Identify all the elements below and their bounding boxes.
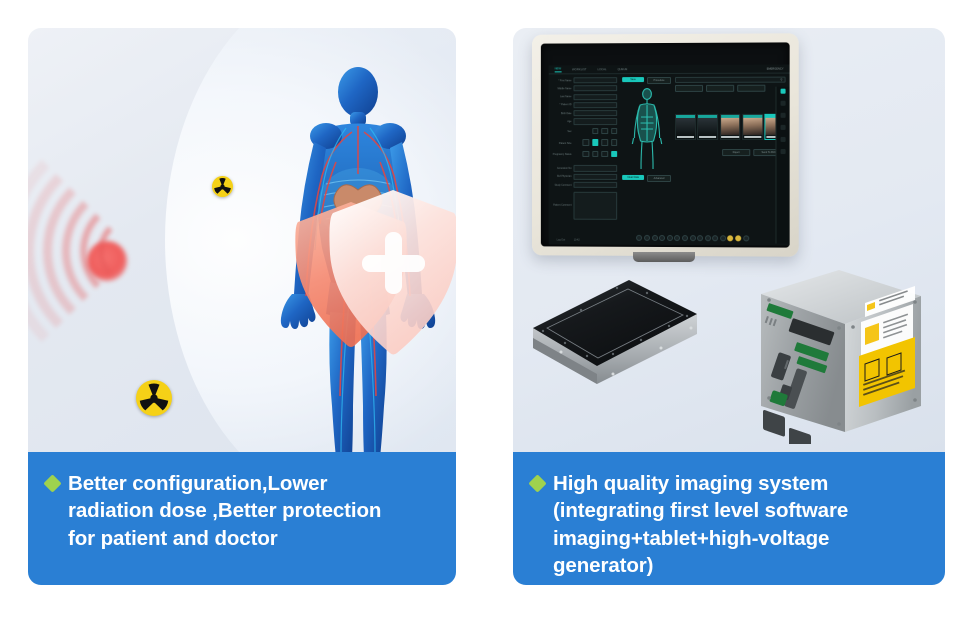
- field-pregnancy-status[interactable]: Pregnancy Status: [552, 150, 617, 159]
- image-toolbar: [618, 235, 767, 242]
- ref-physician-input[interactable]: [573, 174, 617, 180]
- study-action-row: Reject Send To PACS: [675, 149, 786, 156]
- caption-bar-left: Better configuration,Lower radiation dos…: [28, 452, 456, 585]
- field-label: Middle Name: [552, 87, 572, 90]
- search-input[interactable]: ⚲: [675, 77, 786, 83]
- field-label: Birth Date: [552, 112, 572, 115]
- field-accession-no[interactable]: Accession No: [552, 165, 617, 171]
- toolbar-icon[interactable]: [674, 235, 680, 241]
- field-label: Ref Physician: [552, 175, 572, 178]
- rail-icon-exit[interactable]: [781, 149, 786, 154]
- thumbnail-image: [676, 118, 695, 135]
- thumbnail-item[interactable]: [697, 114, 718, 140]
- emergency-button[interactable]: EMERGENCY: [767, 67, 784, 70]
- field-study-comment[interactable]: Study Comment: [552, 182, 617, 188]
- field-last-name[interactable]: Last Name: [552, 94, 617, 100]
- side-rail: [775, 87, 789, 244]
- procedure-button[interactable]: Procedure: [647, 77, 671, 84]
- pregnancy-options[interactable]: [573, 151, 617, 157]
- toolbar-icon[interactable]: [659, 235, 665, 241]
- toolbar-icon[interactable]: [652, 235, 658, 241]
- advanced-button[interactable]: Advanced: [647, 175, 671, 182]
- thumbnail-bar: [744, 136, 762, 138]
- pregnancy-option-icon-selected[interactable]: [611, 151, 617, 157]
- toolbar-icon[interactable]: [697, 235, 703, 241]
- field-patient-comment[interactable]: Patient Comment: [552, 190, 617, 220]
- body-diagram-icon[interactable]: [629, 87, 665, 171]
- protocol-chip-row: [675, 85, 786, 92]
- save-button[interactable]: Save: [622, 77, 644, 82]
- toolbar-icon-highlight[interactable]: [728, 235, 734, 241]
- thumbnail-item[interactable]: [720, 113, 741, 139]
- sex-option-icon[interactable]: [611, 128, 617, 134]
- study-panel: ⚲: [673, 74, 790, 246]
- pregnancy-option-icon[interactable]: [582, 151, 588, 157]
- diamond-bullet-icon: [43, 474, 61, 492]
- field-label: Patient Size: [552, 142, 572, 145]
- radiation-trefoil-icon: [212, 176, 233, 197]
- accession-no-input[interactable]: [573, 165, 617, 171]
- field-label: Patient Comment: [552, 203, 572, 206]
- size-option-icon[interactable]: [601, 139, 607, 145]
- status-log-out[interactable]: Log Out: [557, 239, 565, 242]
- thumbnail-bar: [721, 136, 739, 138]
- reject-button[interactable]: Reject: [722, 149, 750, 156]
- diamond-bullet-icon: [528, 474, 546, 492]
- first-name-input[interactable]: [573, 77, 617, 83]
- field-birth-date[interactable]: Birth Date: [552, 110, 617, 116]
- toolbar-icon[interactable]: [690, 235, 696, 241]
- monitor-stand: [633, 252, 695, 262]
- thumbnail-bar: [699, 136, 717, 138]
- field-first-name[interactable]: * First Name: [552, 77, 617, 83]
- pregnancy-option-icon[interactable]: [601, 151, 607, 157]
- size-option-icon[interactable]: [611, 139, 617, 145]
- sex-options[interactable]: [573, 128, 617, 135]
- field-age[interactable]: Age: [552, 118, 617, 124]
- patient-id-input[interactable]: [573, 102, 617, 108]
- pregnancy-option-icon[interactable]: [592, 151, 598, 157]
- toolbar-icon[interactable]: [667, 235, 673, 241]
- toolbar-icon[interactable]: [682, 235, 688, 241]
- field-sex[interactable]: Sex: [552, 127, 617, 137]
- rail-icon-acquire[interactable]: [781, 89, 786, 94]
- rail-icon-system[interactable]: [781, 137, 786, 142]
- radiation-protection-illustration: [28, 28, 456, 452]
- tab-queue[interactable]: QUEUE: [617, 67, 627, 71]
- protocol-chip[interactable]: [737, 85, 765, 92]
- toolbar-icon[interactable]: [712, 235, 718, 241]
- radiation-trefoil-icon: [136, 380, 172, 416]
- shield-plus-icon: [326, 188, 456, 358]
- rail-icon-tools[interactable]: [781, 113, 786, 118]
- toolbar-icon[interactable]: [644, 235, 650, 241]
- tab-worklist[interactable]: WORKLIST: [572, 67, 586, 71]
- flat-panel-detector: [521, 262, 711, 412]
- tab-new[interactable]: NEW: [555, 66, 561, 72]
- size-option-icon[interactable]: [582, 139, 588, 145]
- toolbar-icon[interactable]: [720, 235, 726, 241]
- primary-button-row: Save Procedure: [622, 77, 671, 84]
- clear-data-button[interactable]: Clear Data: [622, 175, 644, 180]
- thumbnail-strip: [675, 113, 786, 139]
- toolbar-icon[interactable]: [705, 235, 711, 241]
- status-bar: Log Out 10:42: [557, 239, 580, 242]
- panel-imaging-system: NEW WORKLIST LOCAL QUEUE EMERGENCY * Fir…: [513, 28, 945, 585]
- protocol-chip[interactable]: [706, 85, 734, 92]
- status-time: 10:42: [574, 239, 580, 242]
- slide-canvas: Better configuration,Lower radiation dos…: [0, 0, 972, 630]
- high-voltage-generator: [753, 256, 928, 444]
- imaging-software-ui: NEW WORKLIST LOCAL QUEUE EMERGENCY * Fir…: [549, 65, 790, 246]
- imaging-system-photo: NEW WORKLIST LOCAL QUEUE EMERGENCY * Fir…: [513, 28, 945, 452]
- study-comment-input[interactable]: [573, 182, 617, 188]
- rail-icon-settings[interactable]: [781, 101, 786, 106]
- panel-radiation-protection: Better configuration,Lower radiation dos…: [28, 28, 456, 585]
- field-label: Study Comment: [552, 183, 572, 186]
- tab-local[interactable]: LOCAL: [597, 67, 606, 71]
- field-middle-name[interactable]: Middle Name: [552, 85, 617, 91]
- toolbar-icon[interactable]: [743, 235, 749, 241]
- field-label: Pregnancy Status: [552, 153, 572, 156]
- field-label: Age: [552, 120, 572, 123]
- thumbnail-image: [743, 118, 762, 135]
- radiating-waves-icon: [38, 146, 228, 356]
- patient-form: * First Name Middle Name Last Name: [549, 74, 620, 245]
- thumbnail-bar: [677, 136, 695, 138]
- thumbnail-item[interactable]: [675, 114, 696, 140]
- size-option-icon-selected[interactable]: [592, 139, 598, 145]
- field-label: * Patient ID: [552, 104, 572, 107]
- sex-option-icon[interactable]: [601, 128, 607, 134]
- patient-size-options[interactable]: [573, 139, 617, 145]
- thumbnail-image: [698, 118, 717, 135]
- toolbar-icon-highlight[interactable]: [735, 235, 741, 241]
- field-label: * First Name: [552, 79, 572, 82]
- field-ref-physician[interactable]: Ref Physician: [552, 174, 617, 180]
- patient-comment-textarea[interactable]: [573, 192, 617, 220]
- monitor-screen: NEW WORKLIST LOCAL QUEUE EMERGENCY * Fir…: [541, 42, 790, 247]
- protocol-chip[interactable]: [675, 85, 703, 92]
- birth-date-input[interactable]: [573, 110, 617, 116]
- shield-group: [292, 188, 456, 368]
- middle-name-input[interactable]: [573, 85, 617, 91]
- caption-text-right: High quality imaging system (integrating…: [553, 470, 931, 579]
- workstation-monitor: NEW WORKLIST LOCAL QUEUE EMERGENCY * Fir…: [532, 33, 799, 256]
- caption-text-left: Better configuration,Lower radiation dos…: [68, 470, 381, 552]
- rail-icon-view[interactable]: [781, 125, 786, 130]
- body-part-selector: Save Procedure: [620, 74, 673, 245]
- caption-bar-right: High quality imaging system (integrating…: [513, 452, 945, 585]
- field-label: Accession No: [552, 167, 572, 170]
- search-icon[interactable]: ⚲: [780, 77, 782, 81]
- last-name-input[interactable]: [573, 94, 617, 100]
- thumbnail-item[interactable]: [742, 113, 763, 139]
- field-patient-id[interactable]: * Patient ID: [552, 102, 617, 108]
- toolbar-icon[interactable]: [636, 235, 642, 241]
- sex-option-icon[interactable]: [592, 128, 598, 134]
- field-patient-size[interactable]: Patient Size: [552, 138, 617, 147]
- software-body: * First Name Middle Name Last Name: [549, 74, 790, 246]
- footer-button-row: Clear Data Advanced: [622, 175, 671, 182]
- thumbnail-image: [721, 118, 740, 135]
- age-input[interactable]: [573, 118, 617, 124]
- field-label: Sex: [552, 130, 572, 133]
- field-label: Last Name: [552, 95, 572, 98]
